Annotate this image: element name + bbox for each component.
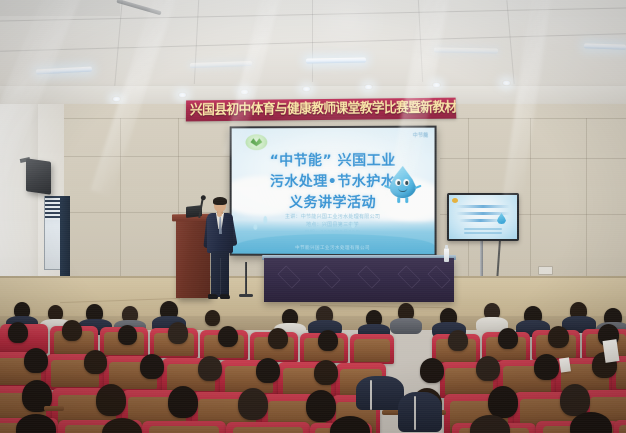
audience-head [306, 390, 336, 422]
uniform-stripe [370, 380, 372, 410]
audience-head [205, 310, 220, 326]
uniform-stripe [414, 396, 416, 430]
seat-armrest [44, 406, 64, 411]
audience-head [314, 360, 338, 385]
presenter [205, 198, 235, 300]
audience-head [548, 326, 569, 348]
event-banner: 兴国县初中体育与健康教师课堂教学比赛暨新教材培训 [186, 98, 456, 122]
auditorium-photo: 兴国县初中体育与健康教师课堂教学比赛暨新教材培训 中节能 “中节能” 兴国工业 … [0, 0, 626, 433]
audience-head [96, 384, 126, 416]
left-pillar [0, 104, 42, 294]
side-monitor-screen [449, 195, 517, 239]
handout-paper [559, 357, 571, 372]
floor-mic-stand [245, 262, 247, 296]
audience-head [560, 384, 590, 416]
audience-head [238, 388, 268, 420]
projection-screen: 中节能 “中节能” 兴国工业 污水处理•节水护水 义务讲学活动 主讲：中节能兴国… [230, 126, 437, 257]
seat [350, 334, 394, 364]
audience-shoulders [398, 392, 442, 432]
audience-head [256, 358, 280, 383]
audience-seating [0, 300, 626, 433]
downlight-5 [432, 82, 441, 88]
audience-head [218, 326, 238, 347]
audience-head [448, 330, 468, 351]
floor-mic-stand-base [239, 294, 253, 297]
ceiling-tube-light-3 [306, 57, 366, 63]
monitor-logo-icon [452, 198, 458, 203]
side-monitor [447, 193, 519, 241]
audience-head [168, 322, 188, 344]
audience-head [318, 330, 338, 351]
head-table [264, 258, 454, 302]
projection-screen-content: 中节能 “中节能” 兴国工业 污水处理•节水护水 义务讲学活动 主讲：中节能兴国… [232, 128, 435, 255]
audience-shoulders [356, 376, 404, 410]
audience-head [62, 320, 82, 341]
brand-mark: 中节能 [413, 132, 429, 139]
seat [142, 421, 226, 433]
seat [614, 420, 626, 433]
water-bottle [444, 248, 449, 262]
slide-footer: 中节能兴国工业污水处理有限公司 [232, 245, 435, 252]
speaker-icon [26, 158, 51, 195]
seat [226, 422, 310, 433]
audience-shoulders [390, 318, 422, 334]
audience-head [118, 325, 137, 345]
wall-outlet [538, 266, 553, 275]
audience-head [168, 386, 198, 418]
water-drop-icon [389, 166, 416, 200]
audience-head [8, 322, 28, 343]
audience-head [534, 354, 559, 380]
audience-head [476, 356, 500, 381]
downlight-1 [178, 92, 187, 98]
downlight-2 [240, 89, 249, 95]
audience-head [140, 354, 164, 379]
audience-head [84, 350, 107, 374]
event-banner-text: 兴国县初中体育与健康教师课堂教学比赛暨新教材培训 [190, 99, 440, 121]
downlight-4 [364, 84, 373, 90]
downlight-3 [302, 86, 311, 92]
audience-head [24, 348, 48, 373]
audience-head [268, 328, 288, 349]
downlight-7 [112, 96, 121, 102]
audience-head [498, 328, 518, 349]
leaf-logo-icon [245, 134, 267, 150]
downlight-6 [502, 80, 511, 86]
audience-head [198, 356, 222, 381]
audience-head [488, 386, 518, 418]
handout-paper [603, 339, 620, 363]
audience-head [420, 358, 444, 383]
